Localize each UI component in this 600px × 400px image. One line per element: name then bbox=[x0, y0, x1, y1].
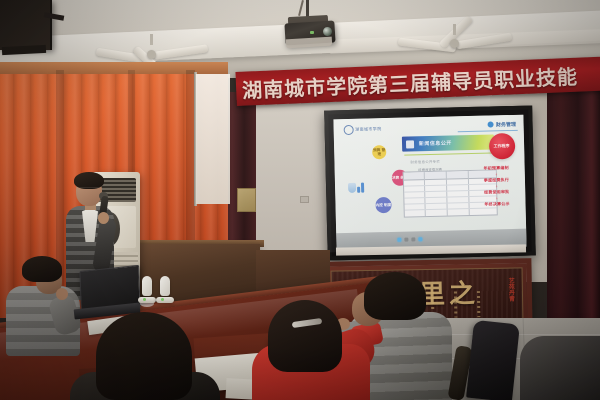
slide-banner-text: 新闻信息公开 bbox=[419, 139, 452, 147]
microphone-base bbox=[138, 297, 156, 303]
wall-outlet bbox=[300, 196, 309, 203]
presenter-glasses bbox=[79, 187, 99, 193]
presentation-slide: 湖南城市学院 财务管理 预算 管理 决算 统计 内控 制度 新闻信息 bbox=[333, 115, 526, 233]
led-icon bbox=[411, 237, 415, 241]
slide-circle-1: 预算 管理 bbox=[372, 145, 386, 159]
foreground-person-hair bbox=[96, 312, 192, 400]
microphone-base bbox=[156, 297, 174, 303]
fan-rod bbox=[150, 34, 153, 45]
slide-caption: 财务信息公开专栏 bbox=[410, 159, 440, 165]
banner-square-icon bbox=[406, 140, 414, 148]
bullet-dot-icon bbox=[488, 122, 494, 128]
slide-chart-icon bbox=[348, 178, 365, 193]
fan-hub bbox=[450, 39, 459, 48]
microphone-head-icon bbox=[160, 276, 170, 296]
presenter-hand bbox=[98, 212, 109, 224]
led-icon bbox=[397, 238, 401, 242]
seated-man-hair bbox=[22, 256, 62, 282]
slide-accent-rule bbox=[405, 153, 492, 156]
wall-speaker bbox=[0, 0, 52, 50]
microphone-led-icon bbox=[143, 298, 146, 301]
slide-badge: 工作程序 bbox=[488, 133, 515, 160]
curtain-dark-right bbox=[547, 82, 600, 322]
process-item: 年初预算编制 bbox=[473, 165, 519, 172]
slide-process-list: 年初预算编制 ↓ 季度经费执行 ↓ 经费使用审批 ↓ 年终决算公示 bbox=[473, 165, 520, 208]
microphone-head-icon bbox=[142, 276, 152, 296]
fan-hub bbox=[147, 50, 156, 59]
slide-header-rule bbox=[457, 130, 518, 132]
led-icon bbox=[418, 237, 422, 241]
slide-circle-3: 内控 制度 bbox=[375, 197, 391, 213]
wall-sign-plate bbox=[237, 188, 256, 212]
projection-screen[interactable]: 湖南城市学院 财务管理 预算 管理 决算 统计 内控 制度 新闻信息 bbox=[324, 105, 536, 260]
projector-led-icon bbox=[310, 31, 314, 34]
window-daylight bbox=[196, 74, 230, 204]
rightmost-person bbox=[520, 336, 600, 400]
process-item: 季度经费执行 bbox=[474, 177, 520, 184]
process-item: 经费使用审批 bbox=[474, 189, 520, 196]
slide-logo-text: 湖南城市学院 bbox=[355, 126, 382, 133]
microphone-led-icon bbox=[161, 298, 164, 301]
slide-header-text: 财务管理 bbox=[496, 121, 516, 128]
man-grey-hair bbox=[364, 272, 426, 320]
photo-scene: 湖南城市学院第三届辅导员职业技能 湖南城市学院 财务管理 预算 管理 决算 统计 bbox=[0, 0, 600, 400]
led-icon bbox=[404, 237, 408, 241]
slide-header-right: 财务管理 bbox=[488, 121, 516, 129]
plaque-seal-text: 艺苑丹青 bbox=[507, 278, 515, 302]
fan-rod bbox=[453, 24, 456, 35]
woman-red-hair bbox=[268, 300, 342, 372]
screen-display-area: 湖南城市学院 财务管理 预算 管理 决算 统计 内控 制度 新闻信息 bbox=[333, 115, 526, 252]
table-microphone-1 bbox=[142, 276, 156, 303]
plaque-column bbox=[454, 291, 457, 317]
logo-ring-icon bbox=[343, 125, 353, 135]
plaque-column bbox=[477, 291, 480, 317]
chair-back bbox=[466, 320, 520, 400]
bezel-indicator-leds bbox=[397, 237, 422, 242]
seated-man-hand bbox=[56, 288, 68, 300]
chart-cup-shape bbox=[348, 183, 356, 193]
chart-bar bbox=[361, 183, 364, 193]
table-microphone-2 bbox=[160, 276, 174, 303]
process-item: 年终决算公示 bbox=[474, 201, 520, 208]
slide-content-banner: 新闻信息公开 bbox=[402, 135, 494, 152]
chart-bar bbox=[357, 187, 360, 193]
slide-university-logo: 湖南城市学院 bbox=[343, 124, 382, 135]
